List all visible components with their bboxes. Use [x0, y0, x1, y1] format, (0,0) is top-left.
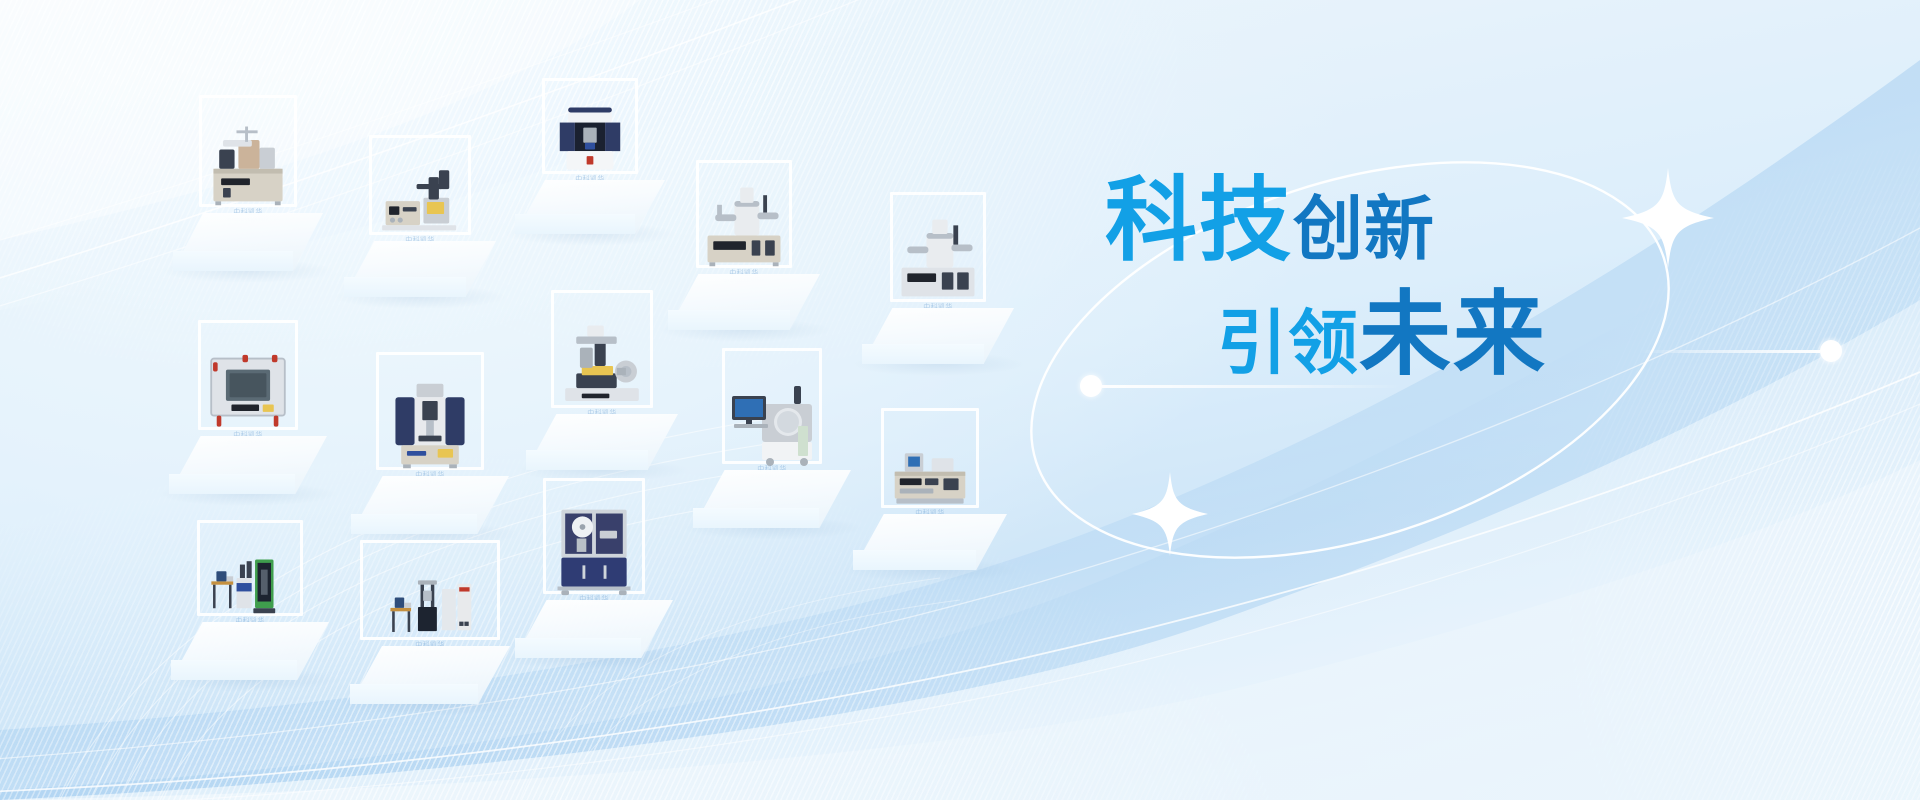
product-pedestal — [526, 414, 678, 470]
pedestal-face — [171, 660, 297, 680]
product-illustration — [363, 558, 497, 644]
sparkle-bottom-left-icon — [1132, 472, 1208, 556]
product-pedestal — [515, 600, 673, 658]
product-pedestal — [169, 436, 327, 494]
dot-connector-right — [1640, 340, 1842, 362]
pedestal-face — [344, 277, 466, 297]
product-illustration — [722, 364, 822, 468]
pedestal-face — [526, 450, 648, 470]
connector-line — [1102, 385, 1402, 388]
product-illustration — [198, 536, 302, 620]
headline-line1-emphasis: 科技 — [1105, 175, 1293, 267]
product-pedestal — [515, 180, 665, 234]
pedestal-face — [515, 214, 635, 234]
product-illustration — [546, 494, 642, 598]
product-image-vacuum-glovebox — [200, 342, 296, 439]
product-illustration — [890, 208, 986, 306]
product-image-coating-workstation — [722, 364, 822, 473]
connector-dot-icon — [1080, 375, 1102, 397]
product-image-optical-microscope-stage — [556, 306, 648, 417]
product-image-universal-testing-machine-set — [363, 558, 497, 649]
pedestal-face — [350, 684, 478, 704]
product-image-micro-scratch-tester — [372, 153, 468, 244]
product-image-control-console-rack — [882, 428, 978, 517]
product-image-nano-indenter-cabinet — [546, 94, 634, 183]
product-pedestal — [668, 274, 820, 330]
headline-line2-lead: 引领 — [1217, 308, 1359, 381]
product-illustration — [382, 370, 478, 474]
connector-line — [1640, 350, 1820, 353]
product-image-vacuum-chamber-system — [696, 174, 792, 277]
pedestal-face — [351, 514, 477, 534]
product-pedestal — [351, 476, 509, 534]
product-illustration — [372, 153, 468, 239]
pedestal-face — [693, 508, 819, 528]
product-illustration — [556, 306, 648, 412]
connector-dot-icon — [1820, 340, 1842, 362]
product-pedestal — [173, 213, 323, 271]
product-pedestal — [693, 470, 851, 528]
product-illustration — [696, 174, 792, 272]
product-image-rotary-friction-wear-tester — [200, 111, 296, 216]
headline-line-2: 引领 未来 — [1105, 289, 1665, 381]
pedestal-face — [173, 251, 293, 271]
pedestal-face — [862, 344, 984, 364]
product-image-vacuum-heat-treatment-furnace — [546, 494, 642, 603]
hero-headline: 科技 创新 引领 未来 — [1105, 175, 1665, 381]
product-pedestal — [350, 646, 510, 704]
headline-line2-emphasis: 未来 — [1359, 289, 1547, 381]
product-illustration — [200, 111, 296, 211]
product-pedestal — [862, 308, 1014, 364]
headline-line-1: 科技 创新 — [1105, 175, 1665, 267]
pedestal-face — [169, 474, 295, 494]
pedestal-face — [853, 550, 976, 570]
product-image-magnetron-sputtering-unit — [890, 208, 986, 311]
product-pedestal — [171, 622, 329, 680]
hero-banner: 中科凯华ZHONGKEKAIHUA 中科凯华ZHONGKEKAIHUA 中科凯华… — [0, 0, 1920, 800]
product-pedestal — [853, 514, 1007, 570]
product-image-high-frequency-fatigue-tester — [382, 370, 478, 479]
pedestal-face — [668, 310, 790, 330]
pedestal-face — [515, 638, 641, 658]
product-illustration — [200, 342, 296, 434]
product-showcase-grid: 中科凯华ZHONGKEKAIHUA 中科凯华ZHONGKEKAIHUA 中科凯华… — [0, 0, 1920, 800]
product-illustration — [546, 94, 634, 178]
product-pedestal — [344, 241, 496, 297]
product-illustration — [882, 428, 978, 512]
headline-line1-tail: 创新 — [1293, 194, 1435, 267]
product-image-materials-testing-lab-set — [198, 536, 302, 625]
